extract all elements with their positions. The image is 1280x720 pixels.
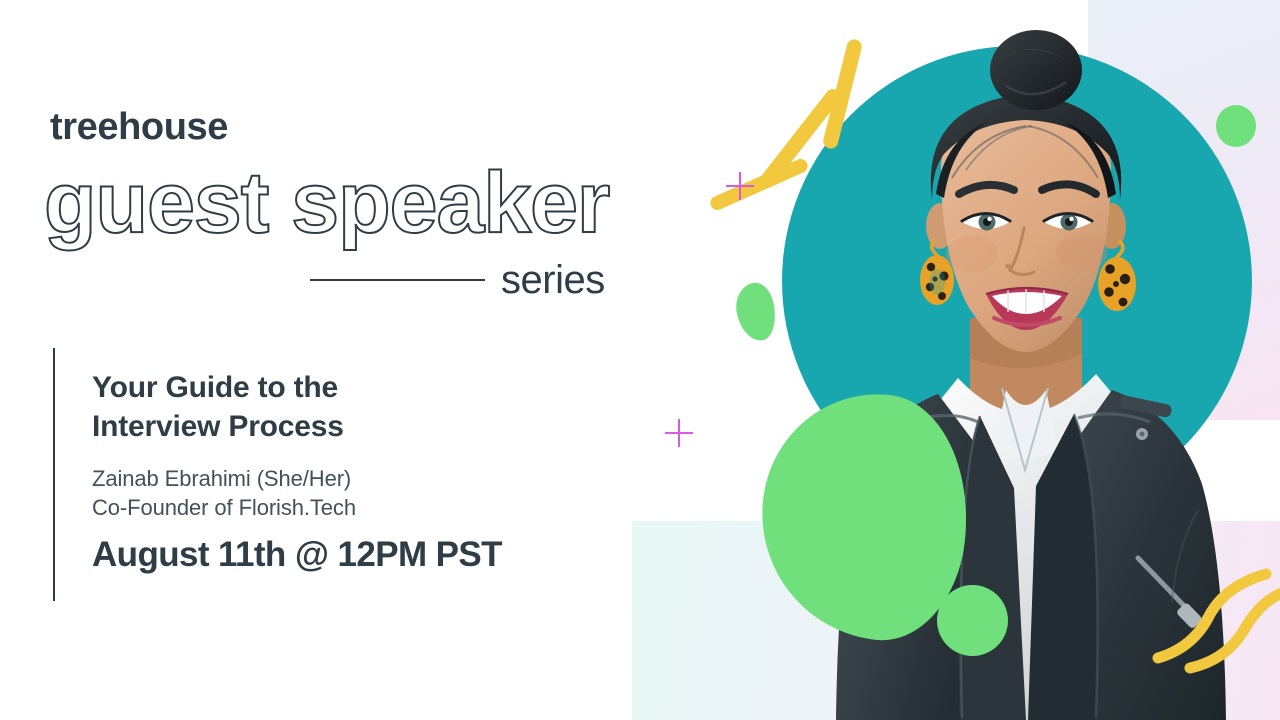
promo-slide: treehouse guest speaker series Your Guid…	[0, 0, 1280, 720]
green-circle-icon-bottom	[937, 585, 1008, 656]
plus-mark-icon-upper	[726, 172, 754, 200]
series-row: series	[310, 258, 624, 302]
headline-outline: guest speaker	[44, 160, 609, 246]
event-datetime: August 11th @ 12PM PST	[92, 536, 612, 575]
green-circle-icon-top	[1216, 105, 1256, 147]
series-rule	[310, 279, 485, 281]
event-details: Your Guide to the Interview Process Zain…	[92, 368, 612, 575]
accent-bar	[53, 348, 55, 601]
organic-blob-icon-small	[731, 280, 780, 345]
series-label: series	[501, 260, 605, 300]
plus-mark-icon-lower	[665, 419, 693, 447]
brand-wordmark: treehouse	[50, 108, 228, 146]
speaker-role: Co-Founder of Florish.Tech	[92, 493, 612, 522]
talk-title: Your Guide to the Interview Process	[92, 368, 612, 446]
speaker-name: Zainab Ebrahimi (She/Her)	[92, 464, 612, 493]
